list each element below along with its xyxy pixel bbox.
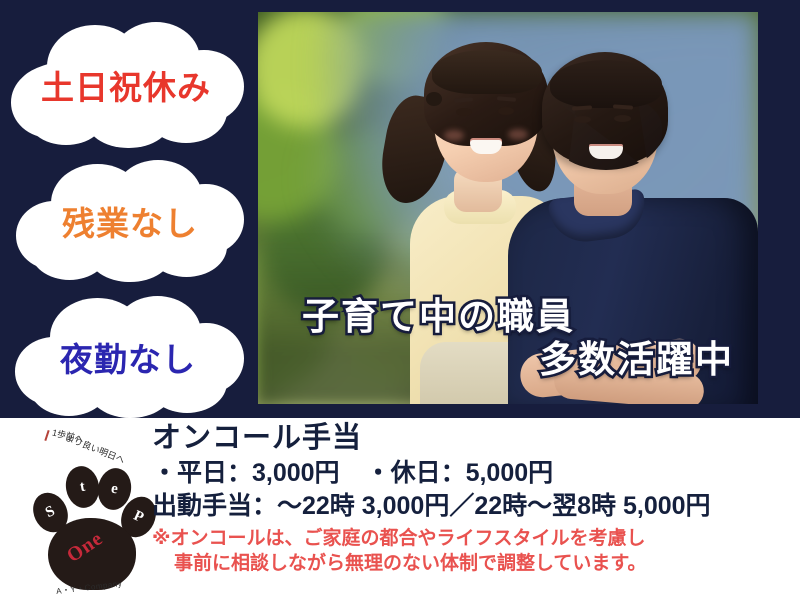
- logo-pad-text: One: [63, 527, 108, 568]
- child-eye-left: [456, 108, 472, 116]
- cloud-no-overtime: 残業なし: [14, 160, 246, 282]
- recruitment-poster: 子育て中の職員 多数活躍中 土日祝休み 残業なし: [0, 0, 800, 600]
- child-fringe: [432, 50, 542, 94]
- logo-toe-t: t: [63, 463, 103, 510]
- oncall-note: ※オンコールは、ご家庭の都合やライフスタイルを考慮し 事前に相談しながら無理のな…: [152, 527, 798, 576]
- staff-smile: [589, 146, 623, 159]
- cloud-no-night-shift: 夜勤なし: [10, 296, 246, 418]
- staff-fringe: [550, 60, 662, 108]
- staff-eye-left: [574, 116, 591, 123]
- logo-paw-pad: One: [48, 518, 136, 590]
- oncall-note-line-1: ※オンコールは、ご家庭の都合やライフスタイルを考慮し: [152, 528, 645, 549]
- benefits-allowance-row: ・平日：3,000円・休日：5,000円: [152, 458, 798, 488]
- child-eye-right: [498, 107, 514, 115]
- child-hair-tie: [426, 92, 442, 106]
- child-cheek-left: [444, 130, 464, 141]
- cloud-label: 夜勤なし: [60, 333, 196, 381]
- dispatch-allowance-row: 出動手当：〜22時 3,000円／22時〜翌8時 5,000円: [152, 491, 798, 521]
- logo-tagline-line-2: より良い明日へ: [64, 431, 127, 467]
- staff-photo: [258, 12, 758, 404]
- allowance-holiday: ・休日：5,000円: [366, 459, 554, 487]
- staff-eye-right: [614, 115, 631, 122]
- company-logo: 1歩前へ より良い明日へ S t e P One A・Y・Company: [22, 426, 152, 586]
- benefits-panel: 1歩前へ より良い明日へ S t e P One A・Y・Company オンコ…: [0, 418, 800, 600]
- allowance-weekday: ・平日：3,000円: [152, 459, 340, 487]
- child-cheek-right: [508, 129, 528, 140]
- benefits-title: オンコール手当: [152, 422, 798, 455]
- oncall-note-line-2: 事前に相談しながら無理のない体制で調整しています。: [174, 553, 647, 574]
- benefits-text-block: オンコール手当 ・平日：3,000円・休日：5,000円 出動手当：〜22時 3…: [152, 422, 798, 577]
- cloud-label: 残業なし: [62, 197, 198, 245]
- logo-tick-mark: [44, 430, 49, 441]
- cloud-weekend-holiday-off: 土日祝休み: [6, 22, 246, 148]
- cloud-label: 土日祝休み: [41, 61, 211, 109]
- child-mouth: [470, 140, 502, 154]
